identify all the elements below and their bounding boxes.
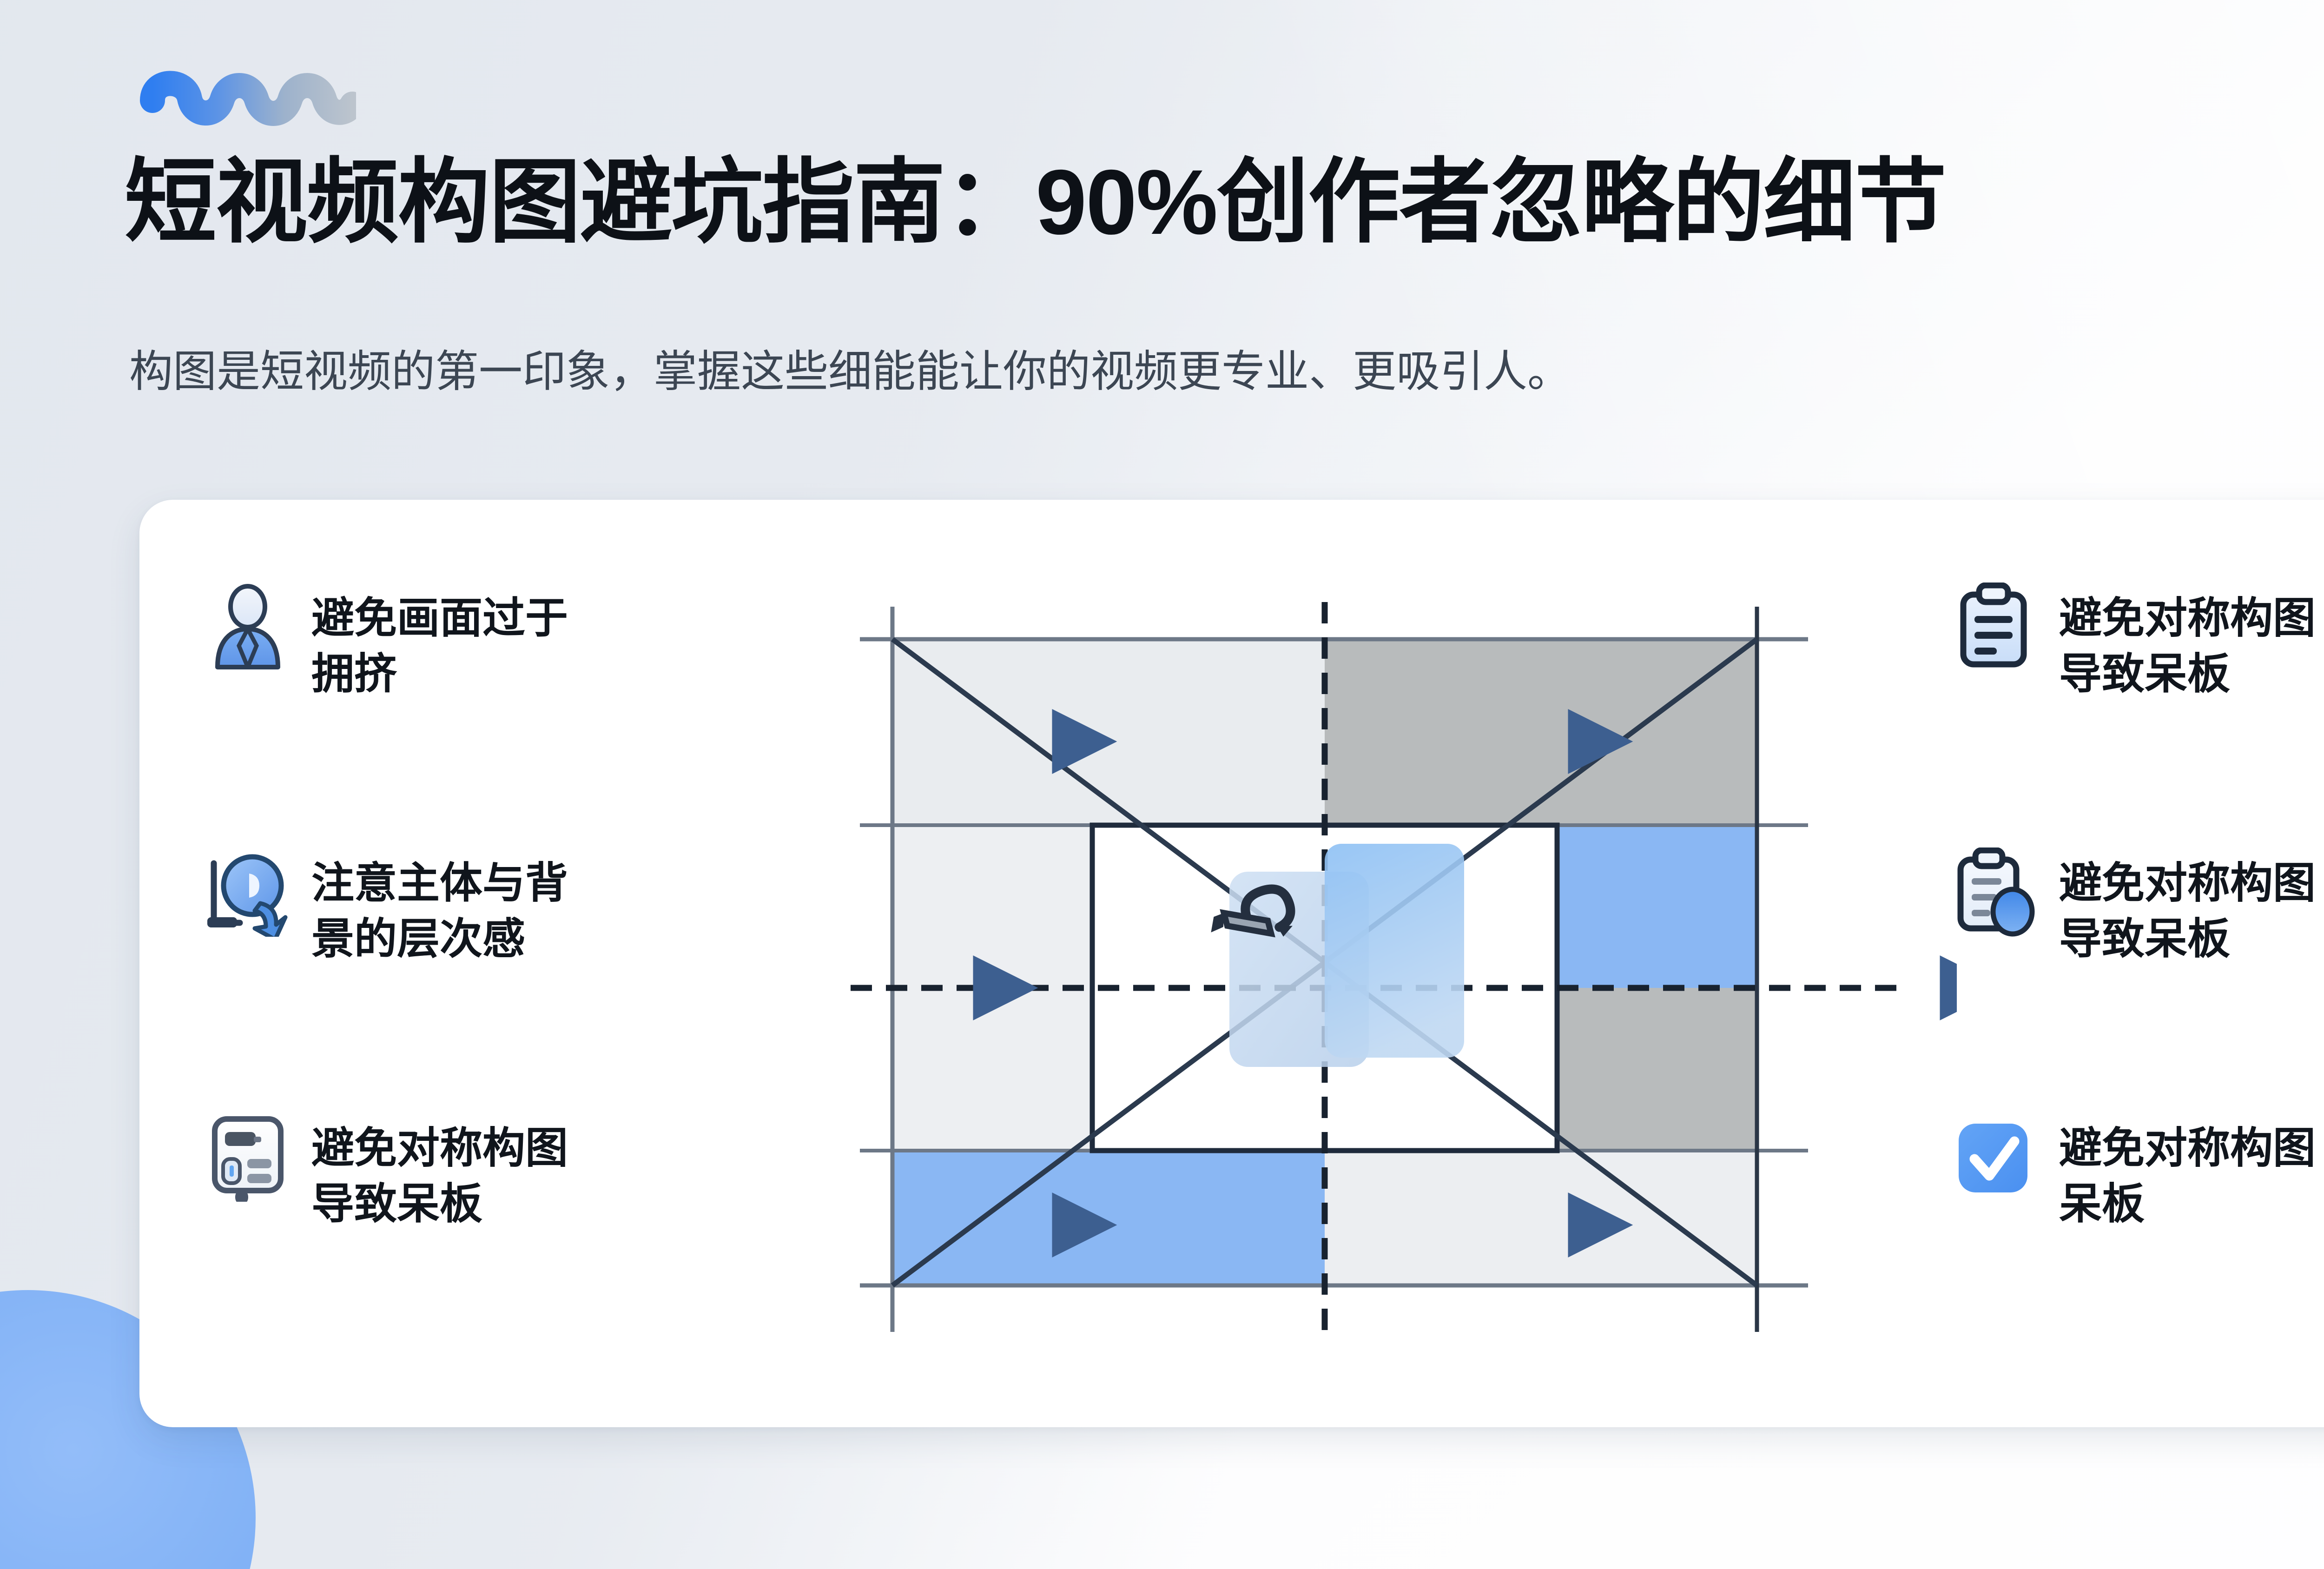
list-item-label: 避免对称构图 导致呆板 — [2059, 583, 2316, 702]
list-item-label: 避免画面过于 拥挤 — [311, 583, 568, 702]
list-item-label: 避免对称构图 呆板 — [2059, 1112, 2316, 1232]
image-search-icon — [205, 847, 291, 937]
clipboard-icon — [1952, 583, 2039, 672]
id-card-icon — [205, 1112, 291, 1202]
clipboard-badge-icon — [1952, 847, 2039, 937]
page-title: 短视频构图避坑指南：90%创作者忽略的细节 — [125, 153, 1946, 251]
infographic-canvas: 短视频构图避坑指南：90%创作者忽略的细节 构图是短视频的第一印象，掌握这些细能… — [0, 0, 2324, 1569]
list-item[interactable]: 注意主体与背 景的层次感 — [205, 847, 827, 967]
wave-logo-icon — [138, 60, 356, 129]
list-item-label: 避免对称构图 导致呆板 — [311, 1112, 568, 1232]
check-square-icon — [1952, 1112, 2039, 1202]
list-item[interactable]: 避免画面过于 拥挤 — [205, 583, 827, 702]
user-avatar-icon — [205, 583, 291, 672]
list-item-label: 注意主体与背 景的层次感 — [311, 847, 568, 967]
list-item[interactable]: 避免对称构图 呆板 — [1952, 1112, 2324, 1232]
list-item[interactable]: 避免对称构图 导致呆板 — [1952, 583, 2324, 702]
list-item-label: 避免对称构图 导致呆板 — [2059, 847, 2316, 967]
list-item[interactable]: 避免对称构图 导致呆板 — [1952, 847, 2324, 967]
page-subtitle: 构图是短视频的第一印象，掌握这些细能能让你的视频更专业、更吸引人。 — [129, 344, 1571, 399]
list-item[interactable]: 避免对称构图 导致呆板 — [205, 1112, 827, 1232]
composition-grid-diagram — [832, 546, 1957, 1378]
content-card: 避免画面过于 拥挤 — [139, 500, 2324, 1427]
